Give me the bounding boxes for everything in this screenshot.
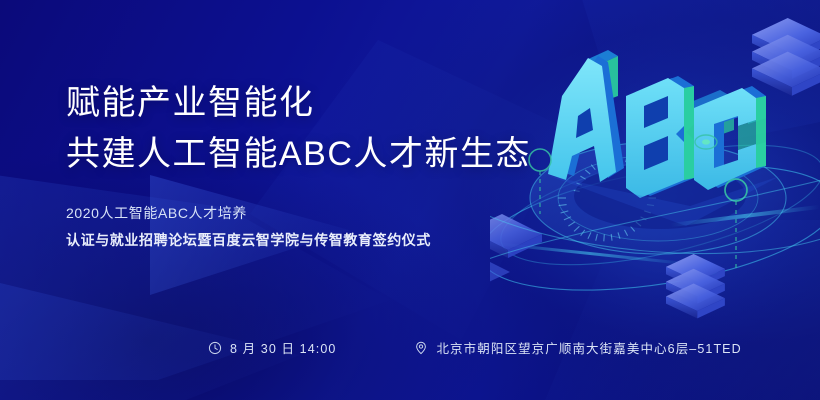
clock-icon: [208, 341, 222, 355]
subtitle-line-2: 认证与就业招聘论坛暨百度云智学院与传智教育签约仪式: [66, 227, 546, 254]
subtitle-block: 2020人工智能ABC人才培养 认证与就业招聘论坛暨百度云智学院与传智教育签约仪…: [66, 200, 546, 254]
headline-line-2: 共建人工智能ABC人才新生态: [66, 129, 546, 180]
location-pin-icon: [414, 341, 428, 355]
event-time: 8 月 30 日 14:00: [208, 338, 336, 357]
banner-copy: 赋能产业智能化 共建人工智能ABC人才新生态 2020人工智能ABC人才培养 认…: [66, 78, 546, 254]
event-meta-row: 8 月 30 日 14:00 北京市朝阳区望京广顺南大街嘉美中心6层–51TED: [208, 338, 742, 357]
headline-line-1: 赋能产业智能化: [66, 78, 546, 129]
subtitle-line-1: 2020人工智能ABC人才培养: [66, 200, 546, 227]
event-location: 北京市朝阳区望京广顺南大街嘉美中心6层–51TED: [414, 338, 741, 357]
letter-b: [626, 76, 694, 198]
event-banner: 赋能产业智能化 共建人工智能ABC人才新生态 2020人工智能ABC人才培养 认…: [0, 0, 820, 400]
event-time-text: 8 月 30 日 14:00: [230, 338, 336, 357]
event-location-text: 北京市朝阳区望京广顺南大街嘉美中心6层–51TED: [436, 338, 741, 357]
